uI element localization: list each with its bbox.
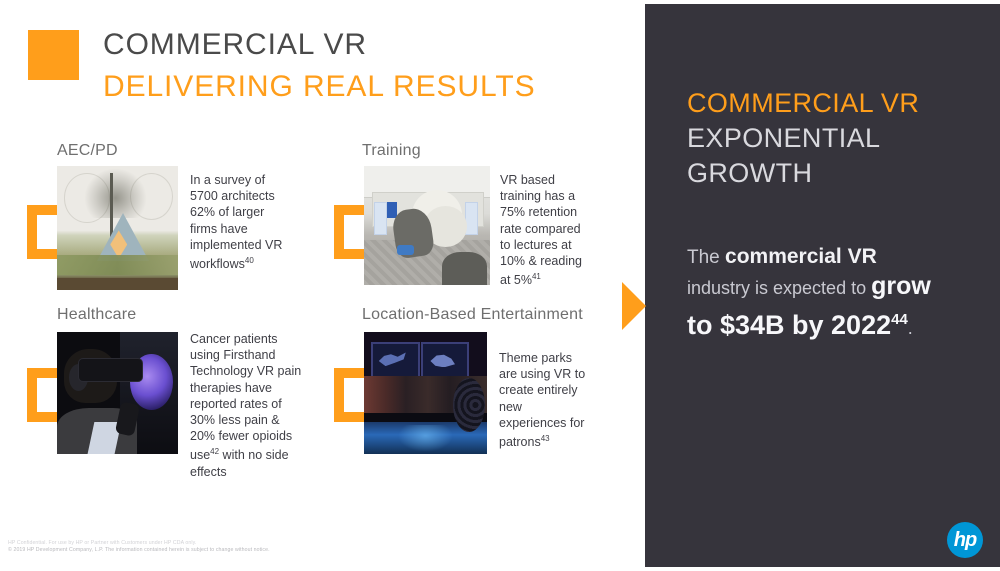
right-panel: COMMERCIAL VR EXPONENTIAL GROWTH The com… bbox=[645, 4, 1000, 567]
category-body: Theme parks are using VR to create entir… bbox=[499, 350, 587, 450]
category-label: Training bbox=[362, 142, 421, 160]
title-texts: COMMERCIAL VR DELIVERING REAL RESULTS bbox=[103, 28, 535, 105]
category-thumbnail bbox=[364, 166, 490, 285]
footer-line-2: © 2019 HP Development Company, L.P. The … bbox=[8, 547, 428, 554]
footer: HP Confidential. For use by HP or Partne… bbox=[8, 540, 428, 555]
category-body: In a survey of 5700 architects 62% of la… bbox=[190, 172, 286, 272]
category-body: Cancer patients using Firsthand Technolo… bbox=[190, 331, 302, 480]
hp-logo: hp bbox=[947, 522, 983, 558]
category-thumbnail bbox=[364, 332, 487, 454]
bracket-marker bbox=[334, 368, 365, 422]
category-label: Healthcare bbox=[57, 306, 136, 324]
panel-body: The commercial VR industry is expected t… bbox=[687, 244, 992, 345]
arrow-right-icon bbox=[622, 282, 646, 330]
bracket-marker bbox=[27, 368, 58, 422]
page-subtitle: DELIVERING REAL RESULTS bbox=[103, 69, 535, 105]
category-thumbnail bbox=[57, 332, 178, 454]
page-title: COMMERCIAL VR bbox=[103, 28, 535, 62]
category-body: VR based training has a 75% retention ra… bbox=[500, 172, 582, 289]
category-thumbnail bbox=[57, 166, 178, 290]
slide: COMMERCIAL VR DELIVERING REAL RESULTS AE… bbox=[0, 0, 1000, 571]
panel-title: COMMERCIAL VR EXPONENTIAL GROWTH bbox=[687, 86, 987, 191]
bracket-marker bbox=[334, 205, 365, 259]
orange-square-accent bbox=[28, 30, 79, 80]
panel-title-line-3: GROWTH bbox=[687, 156, 987, 191]
bracket-marker bbox=[27, 205, 58, 259]
panel-body-line-3: to $34B by 202244. bbox=[687, 303, 992, 345]
category-label: AEC/PD bbox=[57, 142, 118, 160]
panel-title-line-2: EXPONENTIAL bbox=[687, 121, 987, 156]
panel-title-line-1: COMMERCIAL VR bbox=[687, 86, 987, 121]
panel-body-line-1: The commercial VR bbox=[687, 244, 992, 271]
category-label: Location-Based Entertainment bbox=[362, 306, 583, 324]
hp-logo-text: hp bbox=[947, 522, 983, 558]
panel-body-line-2: industry is expected to grow bbox=[687, 271, 992, 303]
